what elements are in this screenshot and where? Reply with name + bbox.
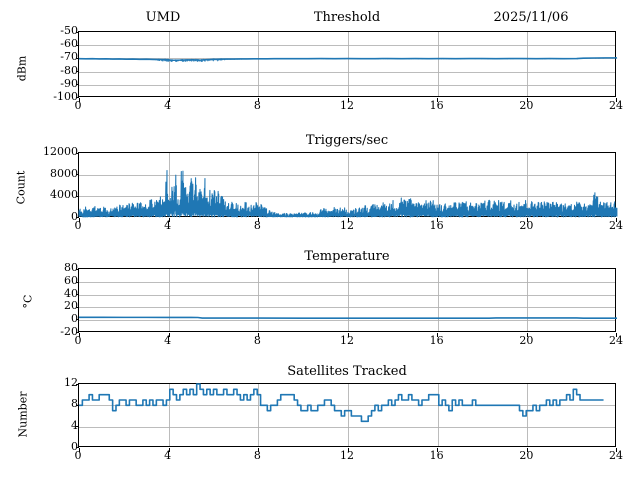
panel-triggers-xtick-5: 20: [519, 220, 533, 232]
panel-temperature-xtick-0: 0: [75, 335, 82, 347]
panel-triggers-xtick-4: 16: [430, 220, 444, 232]
panel-triggers-xtick-1: 4: [164, 220, 171, 232]
panel-temperature-plotarea: [78, 268, 616, 332]
panel-triggers-plotarea: [78, 152, 616, 217]
y-tickmark: [76, 426, 80, 427]
panel-temperature-xtick-3: 12: [340, 335, 354, 347]
panel-triggers-xtick-3: 12: [340, 220, 354, 232]
y-tickmark: [76, 269, 80, 270]
panel-satellites-xtick-6: 24: [609, 450, 623, 462]
panel-triggers-xtick-6: 24: [609, 220, 623, 232]
y-tickmark: [76, 294, 80, 295]
panel-temperature-xtick-1: 4: [164, 335, 171, 347]
panel-triggers-title: Triggers/sec: [78, 133, 616, 149]
panel-temperature-xtick-4: 16: [430, 335, 444, 347]
panel-threshold-plotarea: [78, 31, 616, 97]
panel-threshold-xtick-5: 20: [519, 100, 533, 112]
panel-temperature-ytick-0: 80: [28, 263, 83, 273]
y-tickmark: [76, 71, 80, 72]
y-tickmark: [76, 196, 80, 197]
panel-temperature-title: Temperature: [78, 249, 616, 265]
y-tickmark: [76, 319, 80, 320]
panel-satellites-ylabel: Number: [17, 380, 30, 450]
y-tickmark: [76, 58, 80, 59]
panel-threshold-xtick-0: 0: [75, 100, 82, 112]
panel-triggers-ytick-1: 8000: [18, 169, 83, 179]
panel-satellites-xtick-3: 12: [340, 450, 354, 462]
panel-satellites-xtick-5: 20: [519, 450, 533, 462]
panel-threshold-xtick-3: 12: [340, 100, 354, 112]
panel-threshold-ylabel: dBm: [16, 39, 29, 99]
y-tickmark: [76, 307, 80, 308]
panel-threshold-xtick-6: 24: [609, 100, 623, 112]
y-tickmark: [76, 405, 80, 406]
panel-satellites-xtick-1: 4: [164, 450, 171, 462]
panel-satellites-xtick-2: 8: [254, 450, 261, 462]
date-label: 2025/11/06: [446, 9, 616, 27]
figure-canvas: UMD Threshold 2025/11/06 dBm -50 -60 -70…: [0, 0, 640, 480]
panel-triggers-ytick-3: 0: [18, 212, 83, 222]
panel-threshold-xtick-4: 16: [430, 100, 444, 112]
panel-temperature-xtick-2: 8: [254, 335, 261, 347]
y-tickmark: [76, 384, 80, 385]
panel-threshold-xtick-1: 4: [164, 100, 171, 112]
panel-satellites-trace: [79, 384, 617, 448]
panel-triggers-xtick-2: 8: [254, 220, 261, 232]
y-tickmark: [76, 32, 80, 33]
panel-triggers-xtick-0: 0: [75, 220, 82, 232]
panel-satellites-ytick-0: 12: [28, 378, 83, 388]
y-tickmark: [76, 174, 80, 175]
panel-triggers-ylabel: Count: [15, 158, 28, 218]
panel-threshold-trace: [79, 32, 617, 98]
panel-satellites-plotarea: [78, 383, 616, 447]
panel-threshold-ytick-0: -50: [28, 26, 83, 36]
y-tickmark: [76, 282, 80, 283]
y-tickmark: [76, 45, 80, 46]
panel-satellites-xtick-0: 0: [75, 450, 82, 462]
panel-triggers-trace: [79, 153, 617, 218]
y-tickmark: [76, 84, 80, 85]
panel-temperature-xtick-6: 24: [609, 335, 623, 347]
y-tickmark: [76, 153, 80, 154]
panel-triggers-ytick-0: 12000: [18, 147, 83, 157]
panel-temperature-trace: [79, 269, 617, 333]
panel-threshold-xtick-2: 8: [254, 100, 261, 112]
panel-satellites-xtick-4: 16: [430, 450, 444, 462]
panel-triggers-ytick-2: 4000: [18, 190, 83, 200]
panel-temperature-xtick-5: 20: [519, 335, 533, 347]
panel-satellites-title: Satellites Tracked: [78, 364, 616, 380]
